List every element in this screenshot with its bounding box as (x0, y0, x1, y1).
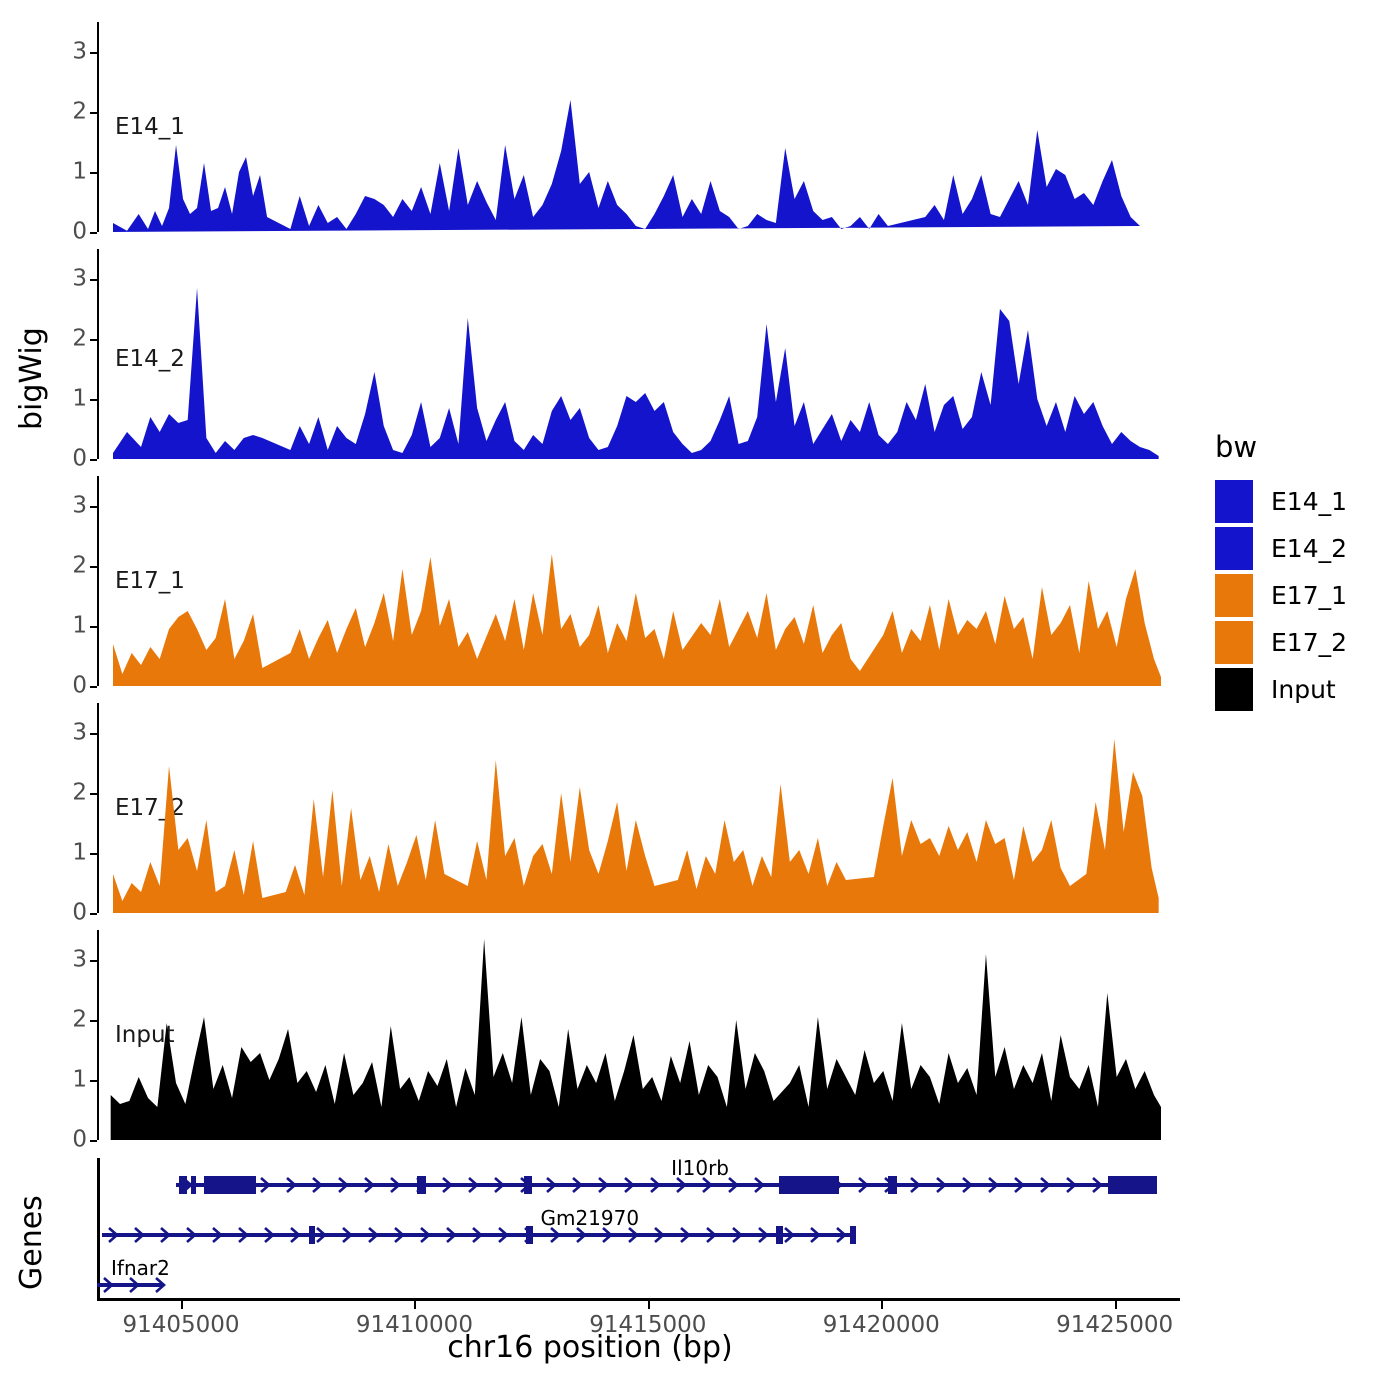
legend-item-e17_2[interactable]: E17_2 (1215, 619, 1390, 666)
x-tick (1115, 1301, 1117, 1309)
strand-arrow-icon (238, 1227, 250, 1243)
legend-item-e17_1[interactable]: E17_1 (1215, 572, 1390, 619)
legend-swatch (1215, 668, 1253, 711)
strand-arrow-icon (312, 1177, 324, 1193)
legend-item-e14_1[interactable]: E14_1 (1215, 478, 1390, 525)
strand-arrow-icon (446, 1227, 458, 1243)
strand-arrow-icon (836, 1227, 848, 1243)
x-axis: 9140500091410000914150009142000091425000 (97, 1298, 1180, 1358)
strand-arrow-icon (160, 1227, 172, 1243)
strand-arrow-icon (654, 1227, 666, 1243)
legend-label: E14_1 (1271, 487, 1347, 516)
y-tick-label: 1 (72, 385, 87, 411)
y-tick (90, 339, 97, 341)
x-axis-line (97, 1298, 1180, 1301)
exon-block (179, 1176, 187, 1194)
strand-arrow-icon (420, 1227, 432, 1243)
y-tick (90, 399, 97, 401)
exon-block (191, 1176, 196, 1194)
gene-track-ifnar2[interactable]: Ifnar2 (97, 1272, 1180, 1298)
legend-label: E14_2 (1271, 534, 1347, 563)
y-tick-label: 2 (72, 325, 87, 351)
legend-item-e14_2[interactable]: E14_2 (1215, 525, 1390, 572)
strand-arrow-icon (186, 1227, 198, 1243)
x-tick-label: 91420000 (823, 1312, 940, 1338)
strand-arrow-icon (680, 1227, 692, 1243)
track-panel-e17_2: 0123E17_2 (97, 703, 1180, 913)
x-tick-label: 91415000 (589, 1312, 706, 1338)
strand-arrow-icon (212, 1227, 224, 1243)
strand-arrow-icon (390, 1177, 402, 1193)
y-tick (90, 913, 97, 915)
y-tick (90, 52, 97, 54)
strand-arrow-icon (338, 1177, 350, 1193)
strand-arrow-icon (754, 1177, 766, 1193)
y-tick (90, 686, 97, 688)
strand-arrow-icon (394, 1227, 406, 1243)
x-tick (181, 1301, 183, 1309)
track-plot-area (99, 22, 1180, 232)
strand-arrow-icon (286, 1177, 298, 1193)
legend-title: bw (1215, 430, 1390, 464)
track-panel-e17_1: 0123E17_1 (97, 476, 1180, 686)
genome-browser-figure: bigWig Genes chr16 position (bp) 0123E14… (0, 0, 1400, 1400)
genes-panel: Il10rbGm21970Ifnar2 (97, 1160, 1180, 1300)
exon-block (524, 1176, 532, 1194)
coverage-area (113, 288, 1159, 459)
strand-arrow-icon (498, 1227, 510, 1243)
strand-arrow-icon (910, 1177, 922, 1193)
track-panel-e14_2: 0123E14_2 (97, 249, 1180, 459)
y-tick (90, 506, 97, 508)
strand-arrow-icon (706, 1227, 718, 1243)
legend-swatch (1215, 574, 1253, 617)
strand-arrow-icon (858, 1177, 870, 1193)
y-tick (90, 112, 97, 114)
strand-arrow-icon (650, 1177, 662, 1193)
exon-block (309, 1226, 315, 1244)
y-axis-title: bigWig (14, 327, 49, 430)
strand-arrow-icon (598, 1177, 610, 1193)
gene-track-gm21970[interactable]: Gm21970 (97, 1222, 1180, 1248)
strand-arrow-icon (546, 1177, 558, 1193)
strand-arrow-icon (316, 1227, 328, 1243)
y-tick-label: 3 (72, 946, 87, 972)
legend-label: E17_2 (1271, 628, 1347, 657)
track-plot-area (99, 249, 1180, 459)
legend-items: E14_1E14_2E17_1E17_2Input (1215, 478, 1390, 713)
genes-axis-title: Genes (14, 1195, 49, 1290)
strand-arrow-icon (572, 1177, 584, 1193)
y-tick-label: 2 (72, 552, 87, 578)
exon-block (1108, 1176, 1157, 1194)
strand-arrow-icon (962, 1177, 974, 1193)
exon-block (776, 1226, 783, 1244)
y-tick (90, 1140, 97, 1142)
y-tick-label: 0 (72, 672, 87, 698)
y-tick-label: 3 (72, 492, 87, 518)
strand-arrow-icon (108, 1227, 120, 1243)
y-tick-label: 0 (72, 218, 87, 244)
x-tick-label: 91405000 (122, 1312, 239, 1338)
y-tick-label: 2 (72, 1006, 87, 1032)
strand-arrow-icon (342, 1227, 354, 1243)
y-tick-label: 1 (72, 839, 87, 865)
y-tick (90, 172, 97, 174)
strand-arrow-icon (468, 1177, 480, 1193)
strand-arrow-icon (1092, 1177, 1104, 1193)
track-plot-area (99, 476, 1180, 686)
exon-block (779, 1176, 840, 1194)
x-tick-label: 91425000 (1056, 1312, 1173, 1338)
strand-arrow-icon (988, 1177, 1000, 1193)
y-tick-label: 3 (72, 38, 87, 64)
track-plot-area (99, 703, 1180, 913)
gene-label: Il10rb (671, 1156, 729, 1180)
y-tick-label: 2 (72, 779, 87, 805)
strand-arrow-icon (936, 1177, 948, 1193)
strand-arrow-icon (364, 1177, 376, 1193)
x-tick-label: 91410000 (356, 1312, 473, 1338)
y-tick (90, 566, 97, 568)
y-tick-label: 3 (72, 719, 87, 745)
strand-arrow-icon (368, 1227, 380, 1243)
strand-arrow-icon (264, 1227, 276, 1243)
legend-swatch (1215, 621, 1253, 664)
y-tick-label: 3 (72, 265, 87, 291)
strand-arrow-icon (1066, 1177, 1078, 1193)
strand-arrow-icon (758, 1227, 770, 1243)
track-plot-area (99, 930, 1180, 1140)
legend-item-input[interactable]: Input (1215, 666, 1390, 713)
y-tick-label: 2 (72, 98, 87, 124)
coverage-area (113, 739, 1159, 913)
track-panel-input: 0123Input (97, 930, 1180, 1140)
legend-swatch (1215, 527, 1253, 570)
strand-arrow-icon (1040, 1177, 1052, 1193)
track-panel-e14_1: 0123E14_1 (97, 22, 1180, 232)
y-tick-label: 0 (72, 445, 87, 471)
y-tick (90, 853, 97, 855)
y-tick-label: 1 (72, 612, 87, 638)
strand-arrow-icon (728, 1177, 740, 1193)
legend-swatch (1215, 480, 1253, 523)
strand-arrow-icon (290, 1227, 302, 1243)
gene-track-il10rb[interactable]: Il10rb (97, 1172, 1180, 1198)
strand-arrow-icon (494, 1177, 506, 1193)
exon-block (888, 1176, 896, 1194)
x-tick (881, 1301, 883, 1309)
strand-arrow-icon (784, 1227, 796, 1243)
exon-block (204, 1176, 255, 1194)
strand-arrow-icon (472, 1227, 484, 1243)
y-tick (90, 279, 97, 281)
gene-label: Gm21970 (540, 1206, 639, 1230)
y-tick-label: 0 (72, 899, 87, 925)
y-tick-label: 1 (72, 1066, 87, 1092)
y-tick (90, 459, 97, 461)
strand-arrow-icon (1014, 1177, 1026, 1193)
legend: bw E14_1E14_2E17_1E17_2Input (1215, 430, 1390, 713)
y-tick (90, 960, 97, 962)
y-tick (90, 1020, 97, 1022)
strand-arrow-icon (260, 1177, 272, 1193)
legend-label: E17_1 (1271, 581, 1347, 610)
y-tick (90, 793, 97, 795)
y-tick-label: 1 (72, 158, 87, 184)
y-tick (90, 1080, 97, 1082)
coverage-area (113, 100, 1140, 232)
gene-label: Ifnar2 (111, 1256, 170, 1280)
x-tick (648, 1301, 650, 1309)
exon-block (417, 1176, 426, 1194)
y-tick-label: 0 (72, 1126, 87, 1152)
strand-arrow-icon (624, 1177, 636, 1193)
legend-label: Input (1271, 675, 1336, 704)
exon-block (850, 1226, 856, 1244)
y-tick (90, 626, 97, 628)
coverage-area (113, 554, 1161, 686)
exon-block (526, 1226, 533, 1244)
y-tick (90, 733, 97, 735)
strand-arrow-icon (442, 1177, 454, 1193)
strand-arrow-icon (810, 1227, 822, 1243)
coverage-area (111, 939, 1161, 1140)
strand-arrow-icon (134, 1227, 146, 1243)
x-tick (414, 1301, 416, 1309)
y-tick (90, 232, 97, 234)
strand-arrow-icon (732, 1227, 744, 1243)
